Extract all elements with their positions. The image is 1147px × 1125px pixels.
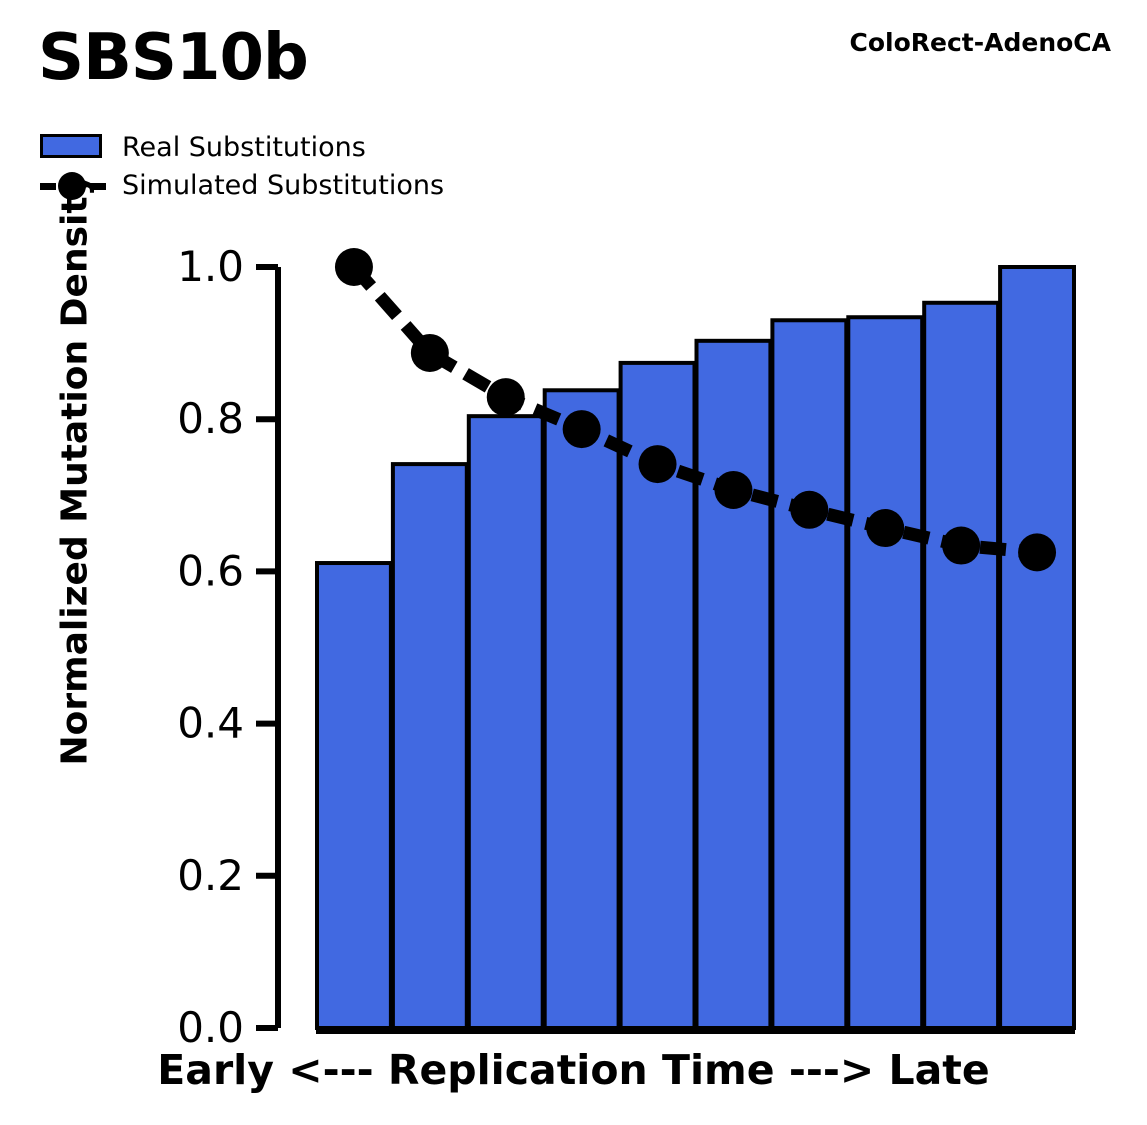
y-tick-label-1.0: 1.0 [177, 242, 244, 291]
simulated-marker-4[interactable] [563, 410, 601, 448]
replication-timing-figure: SBS10b ColoRect-AdenoCA Real Substitutio… [0, 0, 1147, 1125]
simulated-marker-2[interactable] [411, 334, 449, 372]
bar-3[interactable] [469, 416, 543, 1028]
bar-2[interactable] [393, 464, 467, 1028]
simulated-marker-10[interactable] [1018, 533, 1056, 571]
bar-8[interactable] [848, 317, 922, 1028]
y-tick-labels: 0.00.20.40.60.81.0 [177, 242, 244, 1052]
plot-area: 0.00.20.40.60.81.0 [0, 0, 1147, 1125]
simulated-marker-1[interactable] [335, 248, 373, 286]
bar-1[interactable] [317, 563, 391, 1028]
y-tick-label-0.4: 0.4 [177, 699, 244, 748]
simulated-marker-5[interactable] [639, 445, 677, 483]
simulated-marker-8[interactable] [866, 509, 904, 547]
y-tick-label-0.2: 0.2 [177, 851, 244, 900]
bars-group [317, 267, 1074, 1028]
y-tick-label-0.0: 0.0 [177, 1003, 244, 1052]
bar-6[interactable] [697, 341, 771, 1028]
simulated-marker-3[interactable] [487, 378, 525, 416]
bar-4[interactable] [545, 390, 619, 1028]
y-tick-label-0.8: 0.8 [177, 394, 244, 443]
bar-10[interactable] [1000, 267, 1074, 1028]
y-tick-label-0.6: 0.6 [177, 546, 244, 595]
bar-9[interactable] [924, 303, 998, 1028]
bar-7[interactable] [772, 320, 846, 1028]
x-axis-label: Early <--- Replication Time ---> Late [0, 1046, 1147, 1094]
simulated-marker-9[interactable] [942, 527, 980, 565]
simulated-marker-6[interactable] [714, 471, 752, 509]
simulated-marker-7[interactable] [790, 491, 828, 529]
